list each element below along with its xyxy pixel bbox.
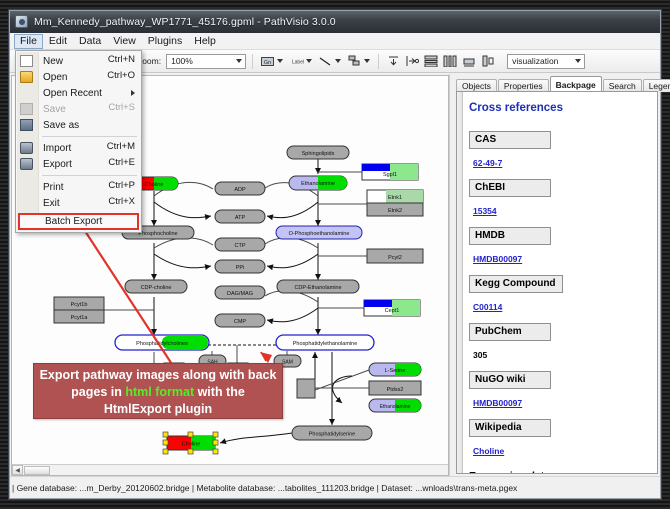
menu-item-export-accel: Ctrl+E [108, 157, 135, 168]
svg-text:Sphingolipids: Sphingolipids [302, 151, 335, 157]
expression-data-heading: Expression data [469, 470, 657, 474]
title-bar: Mm_Kennedy_pathway_WP1771_45176.gpml - P… [10, 11, 660, 33]
xref-source-cas: CAS [469, 131, 551, 149]
menu-plugins[interactable]: Plugins [142, 34, 188, 49]
menu-item-print[interactable]: Print Ctrl+P [16, 179, 141, 195]
metabolite-cdp-choline: CDP-choline [125, 280, 187, 293]
svg-text:Phosphocholine: Phosphocholine [138, 231, 177, 237]
gene-node-pcyt1a: Pcyt1a [54, 310, 104, 323]
tab-backpage[interactable]: Backpage [550, 76, 602, 92]
menu-item-open[interactable]: Open Ctrl+O [16, 69, 141, 85]
menu-item-save-accel: Ctrl+S [108, 102, 135, 113]
svg-text:O-Phosphoethanolamine: O-Phosphoethanolamine [289, 231, 350, 237]
svg-text:Label: Label [292, 60, 304, 66]
xref-value-pubchem: 305 [473, 350, 487, 360]
gene-node-pcyt1b: Pcyt1b [54, 297, 104, 310]
menu-item-exit-accel: Ctrl+X [108, 196, 135, 207]
distribute-tool-icon[interactable] [442, 53, 458, 69]
menu-item-exit[interactable]: Exit Ctrl+X [16, 195, 141, 211]
xref-value-nugo[interactable]: HMDB00097 [473, 398, 522, 408]
menu-item-open-accel: Ctrl+O [107, 70, 135, 81]
xref-value-chebi[interactable]: 15354 [473, 206, 497, 216]
gene-node-pcyt2: Pcyt2 [367, 249, 423, 263]
svg-text:Ethanolamine: Ethanolamine [380, 404, 411, 410]
svg-text:Etnk2: Etnk2 [388, 208, 402, 214]
size-tool-icon[interactable] [461, 53, 477, 69]
svg-text:ATP: ATP [235, 215, 246, 221]
svg-text:Etnk1: Etnk1 [388, 195, 402, 201]
xref-value-hmdb[interactable]: HMDB00097 [473, 254, 522, 264]
menu-item-print-label: Print [43, 182, 64, 193]
menu-data[interactable]: Data [73, 34, 107, 49]
menu-item-save-as[interactable]: Save as [16, 117, 141, 133]
metabolite-phosphatidylcholines: Phosphatidylcholines [115, 335, 209, 350]
metabolite-cmp: CMP [215, 314, 265, 327]
visualization-combo[interactable]: visualization [507, 54, 585, 69]
new-document-icon [20, 55, 33, 67]
metabolite-l-serine: L-Serine [369, 363, 421, 376]
zoom-combo[interactable]: 100% [166, 54, 246, 69]
menu-item-save: Save Ctrl+S [16, 101, 141, 117]
callout-line-2-pre: pages in [71, 385, 125, 399]
status-bar: | Gene database: ...m_Derby_20120602.bri… [10, 476, 660, 498]
label-tool-icon[interactable]: Label [288, 53, 304, 69]
canvas-hscrollbar[interactable]: ◀ [12, 464, 448, 475]
menu-item-print-accel: Ctrl+P [108, 180, 135, 191]
menu-item-import[interactable]: Import Ctrl+M [16, 140, 141, 156]
menu-item-save-as-label: Save as [43, 120, 79, 131]
pathvisio-window: Mm_Kennedy_pathway_WP1771_45176.gpml - P… [9, 10, 661, 499]
menu-item-new-accel: Ctrl+N [108, 54, 135, 65]
submenu-arrow-icon [131, 90, 135, 96]
menu-view[interactable]: View [107, 34, 142, 49]
svg-text:Phosphatidylcholines: Phosphatidylcholines [136, 341, 188, 347]
side-panel: Objects Properties Backpage Search Legen… [449, 74, 660, 476]
visualization-value: visualization [512, 56, 558, 66]
toolbar-separator-2 [378, 54, 379, 69]
callout-line-3: HtmlExport plugin [34, 401, 282, 418]
menu-item-open-label: Open [43, 72, 67, 83]
menu-item-open-recent-label: Open Recent [43, 88, 102, 99]
svg-text:Choline: Choline [145, 182, 164, 188]
xref-source-wikipedia: Wikipedia [469, 419, 551, 437]
backpage-content[interactable]: Cross references CAS 62-49-7 ChEBI 15354… [456, 91, 658, 474]
svg-text:DAG/MAG: DAG/MAG [227, 291, 253, 297]
cross-references-heading: Cross references [469, 102, 657, 114]
menu-separator-1 [42, 136, 137, 137]
svg-text:ADP: ADP [234, 187, 246, 193]
menu-help[interactable]: Help [188, 34, 222, 49]
datanode-tool-icon[interactable]: Gn [259, 53, 275, 69]
import-icon [20, 142, 33, 154]
align-top-tool-icon[interactable] [385, 53, 401, 69]
svg-text:CTP: CTP [235, 243, 246, 249]
menu-item-export-label: Export [43, 159, 72, 170]
svg-text:L-Serine: L-Serine [385, 368, 406, 374]
gene-node-etnk2: Etnk2 [367, 203, 423, 216]
stack-tool-icon[interactable] [423, 53, 439, 69]
scroll-thumb[interactable] [24, 466, 50, 475]
interaction-dropdown-icon[interactable] [364, 59, 370, 63]
callout-line-1: Export pathway images along with back [34, 367, 282, 384]
menu-item-export[interactable]: Export Ctrl+E [16, 156, 141, 172]
line-tool-icon[interactable] [317, 53, 333, 69]
svg-text:Cept1: Cept1 [385, 308, 400, 314]
open-folder-icon [20, 71, 33, 83]
metabolite-sphingolipids: Sphingolipids [287, 146, 349, 159]
svg-text:Pcyt1b: Pcyt1b [71, 302, 88, 308]
file-menu-popup[interactable]: New Ctrl+N Open Ctrl+O Open Recent Save … [15, 50, 142, 233]
menu-bar: File Edit Data View Plugins Help [10, 33, 660, 50]
metabolite-phosphatidylserine: Phosphatidylserine [292, 426, 372, 440]
gene-node-ptdss1 [297, 379, 315, 398]
svg-text:Sgpl1: Sgpl1 [383, 172, 397, 178]
chevron-down-icon-2 [575, 59, 581, 63]
side-panel-tabs: Objects Properties Backpage Search Legen… [456, 76, 658, 92]
svg-text:Pcyt1a: Pcyt1a [71, 315, 89, 321]
toolbar-separator [252, 54, 253, 69]
menu-item-open-recent[interactable]: Open Recent [16, 85, 141, 101]
chevron-down-icon [236, 59, 242, 63]
svg-text:Phosphatidylserine: Phosphatidylserine [309, 432, 355, 438]
svg-text:SAM: SAM [282, 360, 293, 366]
menu-item-exit-label: Exit [43, 198, 60, 209]
datanode-dropdown-icon[interactable] [277, 59, 283, 63]
svg-text:CMP: CMP [234, 319, 247, 325]
metabolite-ethanolamine-2: Ethanolamine [369, 399, 421, 412]
metabolite-ppi: PPi [215, 260, 265, 273]
metabolite-phosphatidylethanolamine: Phosphatidylethanolamine [276, 335, 374, 350]
align-left-tool-icon[interactable] [404, 53, 420, 69]
gene-node-ptdss2: Ptdss2 [369, 381, 421, 395]
status-bar-text: | Gene database: ...m_Derby_20120602.bri… [12, 483, 517, 493]
menu-file[interactable]: File [14, 34, 43, 49]
menu-item-new-label: New [43, 56, 63, 67]
menu-edit[interactable]: Edit [43, 34, 73, 49]
svg-text:Choline: Choline [182, 442, 201, 448]
callout-highlight: html format [125, 385, 194, 399]
line-dropdown-icon[interactable] [335, 59, 341, 63]
metabolite-cdp-ethanolamine: CDP-Ethanolamine [277, 280, 359, 293]
annotation-callout: Export pathway images along with back pa… [33, 363, 283, 419]
gene-node-cept1: Cept1 [364, 300, 420, 316]
svg-text:Ptdss2: Ptdss2 [387, 387, 404, 393]
svg-text:CDP-choline: CDP-choline [141, 285, 172, 291]
xref-source-kegg: Kegg Compound [469, 275, 563, 293]
metabolite-atp: ATP [215, 210, 265, 223]
svg-text:PPi: PPi [236, 265, 245, 271]
label-dropdown-icon[interactable] [306, 59, 312, 63]
menu-item-batch-export-label: Batch Export [45, 216, 102, 227]
xref-source-chebi: ChEBI [469, 179, 551, 197]
xref-value-wikipedia[interactable]: Choline [473, 446, 504, 456]
scroll-left-arrow[interactable]: ◀ [12, 465, 23, 475]
svg-text:Ethanolamine: Ethanolamine [301, 181, 335, 187]
callout-line-2-post: with the [194, 385, 245, 399]
menu-item-save-label: Save [43, 104, 66, 115]
xref-value-cas[interactable]: 62-49-7 [473, 158, 502, 168]
xref-source-pubchem: PubChem [469, 323, 551, 341]
callout-line-2: pages in html format with the [34, 384, 282, 401]
menu-item-batch-export[interactable]: Batch Export [18, 213, 139, 230]
interaction-tool-icon[interactable] [346, 53, 362, 69]
metabolite-ctp: CTP [215, 238, 265, 251]
svg-text:CDP-Ethanolamine: CDP-Ethanolamine [294, 285, 341, 291]
save-as-icon [20, 119, 33, 131]
svg-text:Gn: Gn [263, 60, 270, 66]
save-disabled-icon [20, 103, 33, 115]
xref-value-kegg[interactable]: C00114 [473, 302, 502, 312]
common-size-tool-icon[interactable] [480, 53, 496, 69]
menu-item-import-accel: Ctrl+M [107, 141, 135, 152]
menu-separator-2 [42, 175, 137, 176]
metabolite-dagmag: DAG/MAG [215, 286, 265, 299]
gene-node-etnk1: Etnk1 [367, 190, 423, 203]
window-title: Mm_Kennedy_pathway_WP1771_45176.gpml - P… [34, 16, 336, 28]
metabolite-ethanolamine-1: Ethanolamine [289, 176, 347, 190]
xref-source-hmdb: HMDB [469, 227, 551, 245]
gene-node-sgpl1: Sgpl1 [362, 164, 418, 180]
svg-text:Pcyt2: Pcyt2 [388, 255, 402, 261]
metabolite-o-phosphoethanolamine: O-Phosphoethanolamine [276, 226, 362, 239]
metabolite-adp: ADP [215, 182, 265, 195]
metabolite-choline-bottom-selected: Choline [163, 432, 218, 454]
svg-text:Phosphatidylethanolamine: Phosphatidylethanolamine [293, 341, 358, 347]
export-icon [20, 158, 33, 170]
menu-item-import-label: Import [43, 143, 71, 154]
xref-source-nugo: NuGO wiki [469, 371, 551, 389]
zoom-value: 100% [171, 56, 193, 66]
pathvisio-icon [15, 15, 28, 28]
menu-item-new[interactable]: New Ctrl+N [16, 53, 141, 69]
